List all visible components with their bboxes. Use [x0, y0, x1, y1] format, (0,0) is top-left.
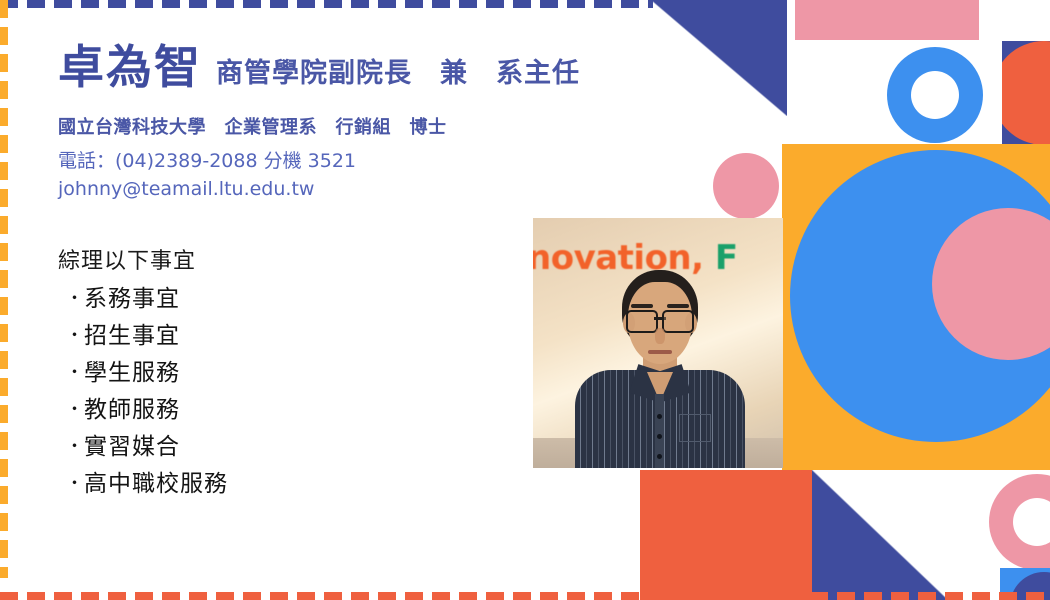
person-name: 卓為智 — [58, 44, 202, 90]
blue-ring-hole — [911, 71, 959, 119]
bullet-icon: ・ — [66, 429, 84, 466]
duty-item-label: 高中職校服務 — [84, 466, 228, 503]
name-and-role-row: 卓為智 商管學院副院長 兼 系主任 — [58, 44, 580, 90]
bullet-icon: ・ — [66, 281, 84, 318]
duties-list: ・系務事宜・招生事宜・學生服務・教師服務・實習媒合・高中職校服務 — [66, 281, 228, 503]
photo-shirt-button — [657, 454, 662, 459]
photo-wall-text: novation, F — [533, 238, 738, 278]
bullet-icon: ・ — [66, 392, 84, 429]
photo-wall-text-orange: novation, — [533, 238, 715, 278]
photo-shirt-button — [657, 434, 662, 439]
person-degree: 國立台灣科技大學 企業管理系 行銷組 博士 — [58, 113, 447, 139]
duty-item: ・高中職校服務 — [66, 466, 228, 503]
bullet-icon: ・ — [66, 355, 84, 392]
frame-dashed-left — [0, 0, 8, 578]
photo-nose — [655, 328, 665, 344]
photo-glasses-icon — [625, 310, 695, 330]
duty-item-label: 實習媒合 — [84, 429, 180, 466]
pink-ring-icon — [989, 474, 1050, 570]
photo-glasses-lens-right — [662, 310, 694, 333]
photo-eyebrow-right — [667, 304, 689, 308]
photo-shirt-button — [657, 414, 662, 419]
red-circle-in-navy-square — [1002, 41, 1050, 145]
photo-wall-text-green: F — [715, 238, 738, 278]
duties-heading: 綜理以下事宜 — [58, 243, 196, 275]
blue-ring-icon — [887, 47, 983, 143]
contact-phone: 電話：(04)2389-2088 分機 3521 — [58, 148, 356, 176]
bullet-icon: ・ — [66, 466, 84, 503]
navy-triangle-top-icon — [651, 0, 787, 116]
photo-shirt-pocket — [679, 414, 711, 442]
photo-eyebrow-left — [631, 304, 653, 308]
photo-glasses-lens-left — [626, 310, 658, 333]
navy-triangle-bottom-icon — [812, 470, 948, 600]
frame-dashed-top — [0, 0, 653, 8]
bullet-icon: ・ — [66, 318, 84, 355]
duty-item: ・招生事宜 — [66, 318, 228, 355]
duty-item: ・系務事宜 — [66, 281, 228, 318]
duty-item: ・實習媒合 — [66, 429, 228, 466]
duty-item-label: 系務事宜 — [84, 281, 180, 318]
duty-item-label: 學生服務 — [84, 355, 180, 392]
slide-canvas: novation, F 卓為智 商管學院副院長 兼 系主任 國立台灣科技大學 企… — [0, 0, 1050, 600]
photo-mouth — [648, 350, 672, 354]
duty-item-label: 教師服務 — [84, 392, 180, 429]
duty-item-label: 招生事宜 — [84, 318, 180, 355]
pink-ring-hole — [1013, 498, 1050, 546]
duty-item: ・學生服務 — [66, 355, 228, 392]
contact-block: 電話：(04)2389-2088 分機 3521 johnny@teamail.… — [58, 148, 356, 203]
orange-block-right — [782, 144, 1050, 470]
frame-dashed-bottom — [0, 592, 1050, 600]
pink-circle-small — [713, 153, 779, 219]
navy-square-top-right — [1002, 41, 1050, 145]
pink-rectangle-top — [795, 0, 979, 40]
duty-item: ・教師服務 — [66, 392, 228, 429]
portrait-photo: novation, F — [533, 218, 783, 468]
red-rectangle-bottom — [640, 470, 812, 600]
person-role-title: 商管學院副院長 兼 系主任 — [216, 60, 580, 87]
contact-email[interactable]: johnny@teamail.ltu.edu.tw — [58, 176, 356, 204]
